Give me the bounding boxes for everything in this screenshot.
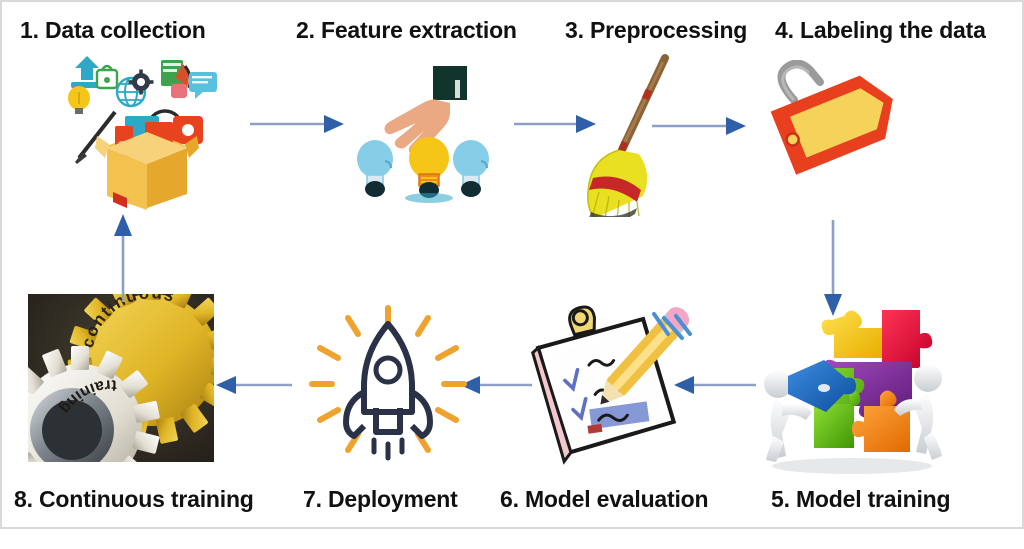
step-7-icon-deployment — [306, 300, 471, 465]
step-4-icon-labeling — [752, 60, 912, 200]
frame-top-border — [0, 0, 1024, 2]
price-tag-label — [752, 60, 912, 200]
rocket-launch — [306, 300, 471, 465]
step-6-label: 6. Model evaluation — [500, 486, 708, 513]
step-2-icon-feature-extraction — [325, 60, 500, 210]
step-6-icon-model-evaluation — [524, 300, 699, 465]
arrow-step7-to-step8 — [214, 373, 294, 397]
arrow-step8-to-step1 — [110, 212, 136, 304]
step-7-label: 7. Deployment — [303, 486, 458, 513]
figures-assembling-puzzle-pieces — [752, 300, 957, 475]
frame-bottom-border — [0, 527, 1024, 529]
step-1-icon-data-collection — [45, 50, 225, 225]
step-3-label: 3. Preprocessing — [565, 17, 747, 44]
ml-lifecycle-diagram: 1. Data collection 2. Feature extraction… — [0, 0, 1024, 549]
step-1-label: 1. Data collection — [20, 17, 206, 44]
open-box-with-floating-data-icons — [45, 50, 225, 225]
step-8-label: 8. Continuous training — [14, 486, 254, 513]
clipboard-with-pencil-checkmarks — [524, 300, 699, 465]
frame-left-border — [0, 0, 2, 529]
step-5-icon-model-training — [752, 300, 957, 475]
step-5-label: 5. Model training — [771, 486, 950, 513]
interlocking-gears: continuous — [28, 294, 214, 462]
step-4-label: 4. Labeling the data — [775, 17, 986, 44]
hand-picking-lightbulb — [325, 60, 500, 210]
step-8-icon-continuous-training: continuous — [28, 294, 214, 462]
arrow-step3-to-step4 — [650, 114, 750, 138]
step-2-label: 2. Feature extraction — [296, 17, 517, 44]
